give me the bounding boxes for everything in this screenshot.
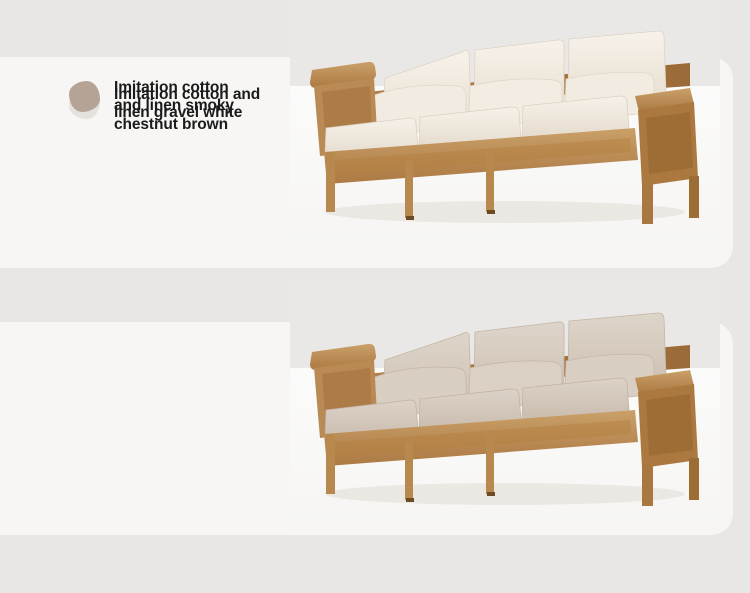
color-swatch-smoky-chestnut-brown[interactable] [69, 81, 100, 112]
product-color-variant-page: Imitation cotton and linen gravel white [0, 0, 750, 593]
variant-label-text: Imitation cotton and linen smoky chestnu… [114, 78, 234, 134]
sofa-photo-gravel-white [290, 0, 720, 250]
sofa-illustration-gravel-white [290, 0, 720, 250]
sofa-photo-smoky-chestnut-brown [290, 282, 720, 532]
variant-label-smoky-chestnut-brown: Imitation cotton and linen smoky chestnu… [69, 78, 234, 134]
sofa-illustration-smoky-chestnut-brown [290, 282, 720, 532]
